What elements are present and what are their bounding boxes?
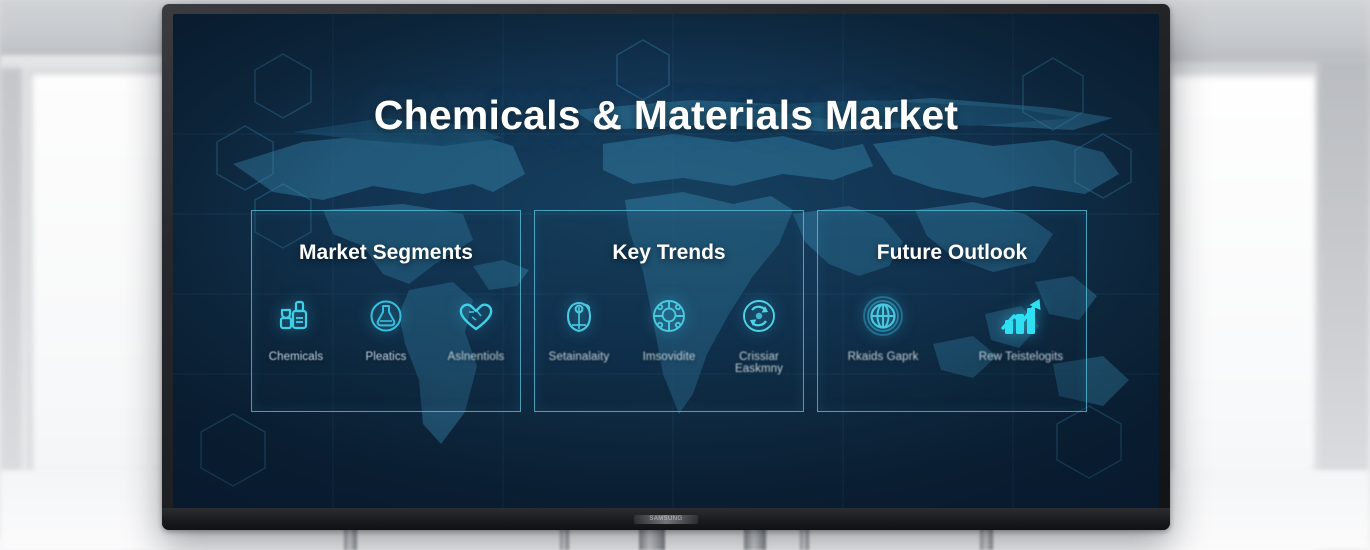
presentation-slide: Chemicals & Materials Market Market Segm… bbox=[173, 14, 1159, 509]
photo-scene: Chemicals & Materials Market Market Segm… bbox=[0, 0, 1370, 550]
item-label: Imsovidite bbox=[643, 351, 696, 363]
item-label: Aslnentiols bbox=[448, 351, 505, 363]
item-label: Rew Teistelogits bbox=[979, 351, 1063, 363]
item-chemicals[interactable]: Chemicals bbox=[254, 289, 338, 363]
item-plastics[interactable]: Pleatics bbox=[344, 289, 428, 363]
item-circular-economy[interactable]: Crissiar Easkmny bbox=[717, 289, 801, 375]
card-items: Chemicals bbox=[252, 289, 520, 363]
item-advanced-materials[interactable]: Aslnentiols bbox=[434, 289, 518, 363]
item-sustainability[interactable]: Setainalaity bbox=[537, 289, 621, 363]
item-label: Crissiar Easkmny bbox=[717, 351, 801, 375]
monitor-bottom-bezel: SAMSUNG bbox=[162, 508, 1170, 530]
item-label: Pleatics bbox=[365, 351, 406, 363]
card-future-outlook[interactable]: Future Outlook bbox=[817, 210, 1087, 412]
growth-chart-icon bbox=[996, 289, 1046, 343]
card-title: Market Segments bbox=[252, 241, 520, 265]
leaf-person-icon bbox=[559, 289, 599, 343]
card-items: Rkaids Gaprk bbox=[818, 289, 1086, 363]
item-label: Rkaids Gaprk bbox=[848, 351, 919, 363]
cards-row: Market Segments bbox=[251, 210, 1087, 410]
item-label: Chemicals bbox=[269, 351, 324, 363]
item-innovation[interactable]: Imsovidite bbox=[627, 289, 711, 363]
globe-target-icon bbox=[859, 289, 907, 343]
card-title: Key Trends bbox=[535, 241, 803, 265]
network-circle-icon bbox=[648, 289, 690, 343]
card-key-trends[interactable]: Key Trends bbox=[534, 210, 804, 412]
card-title: Future Outlook bbox=[818, 241, 1086, 265]
flask-circle-icon bbox=[366, 289, 406, 343]
heart-shape-icon bbox=[455, 289, 497, 343]
item-new-technologies[interactable]: Rew Teistelogits bbox=[969, 289, 1073, 363]
brand-logo: SAMSUNG bbox=[634, 515, 698, 524]
display-monitor: Chemicals & Materials Market Market Segm… bbox=[162, 4, 1170, 530]
card-items: Setainalaity bbox=[535, 289, 803, 375]
slide-title: Chemicals & Materials Market bbox=[173, 92, 1159, 139]
recycle-circle-icon bbox=[738, 289, 780, 343]
item-label: Setainalaity bbox=[549, 351, 610, 363]
bottles-icon bbox=[276, 289, 316, 343]
display-screen: Chemicals & Materials Market Market Segm… bbox=[173, 14, 1159, 509]
item-global-growth[interactable]: Rkaids Gaprk bbox=[831, 289, 935, 363]
card-market-segments[interactable]: Market Segments bbox=[251, 210, 521, 412]
